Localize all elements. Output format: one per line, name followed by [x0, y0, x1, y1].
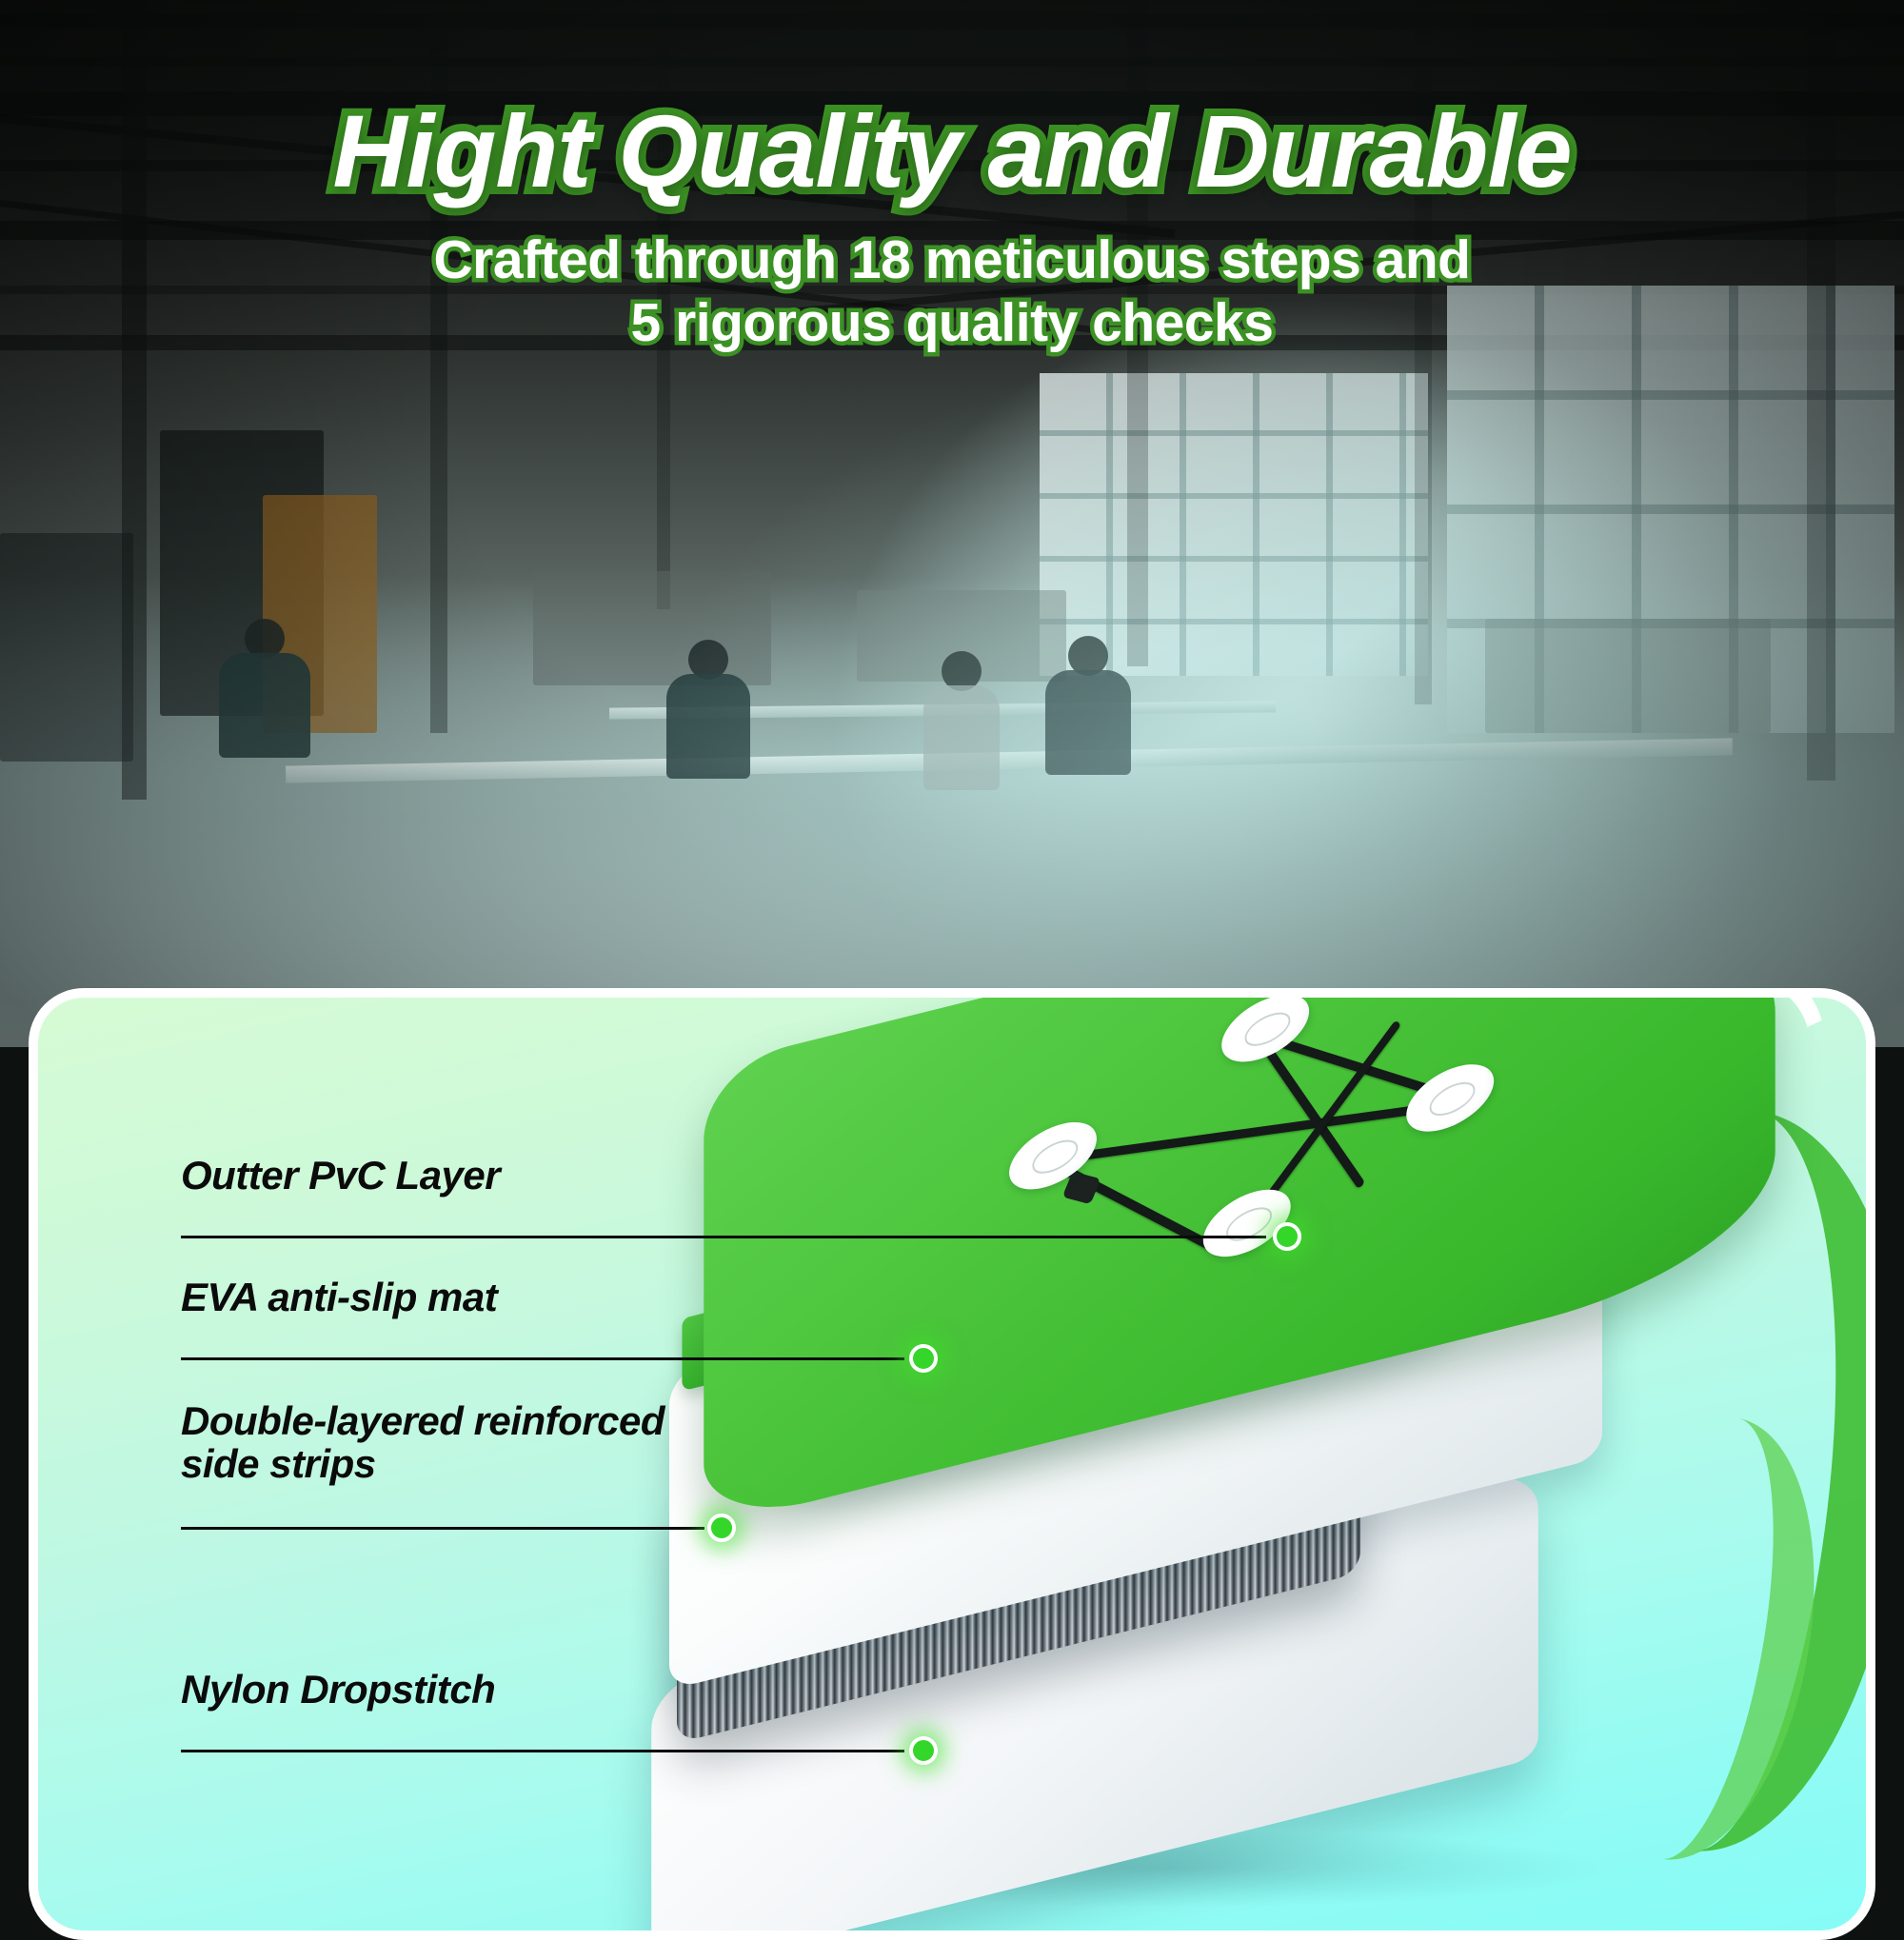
callout-label: Nylon Dropstitch [181, 1668, 495, 1711]
callout-marker-dot [909, 1344, 938, 1373]
callout-leader-line [181, 1750, 904, 1752]
callout-leader-line [181, 1527, 704, 1530]
d-ring-pad [1217, 988, 1315, 1076]
callout-label: Double-layered reinforced [181, 1399, 664, 1442]
callout-nylon-dropstitch: Nylon Dropstitch [181, 1668, 495, 1711]
feature-card: Outter PvC Layer EVA anti-slip mat Doubl… [29, 988, 1875, 1940]
callout-label: EVA anti-slip mat [181, 1276, 497, 1318]
callout-outter-pvc-layer: Outter PvC Layer [181, 1154, 500, 1197]
callout-leader-line [181, 1357, 904, 1360]
bungee-cord [1047, 1100, 1453, 1165]
paddle-board-exploded-illustration [628, 988, 1875, 1940]
callout-marker-dot [909, 1736, 938, 1765]
callout-leader-line [181, 1236, 1266, 1238]
callout-marker-dot [707, 1514, 736, 1542]
callout-label: Outter PvC Layer [181, 1154, 500, 1197]
callout-eva-anti-slip-mat: EVA anti-slip mat [181, 1276, 497, 1318]
d-ring-pad [1401, 1051, 1499, 1145]
callout-double-layered-side-strips: Double-layered reinforced side strips [181, 1399, 664, 1486]
hero-background-photo [0, 0, 1904, 1047]
callout-label-line-2: side strips [181, 1442, 664, 1485]
callout-marker-dot [1273, 1222, 1301, 1251]
photo-vignette [0, 0, 1904, 1047]
